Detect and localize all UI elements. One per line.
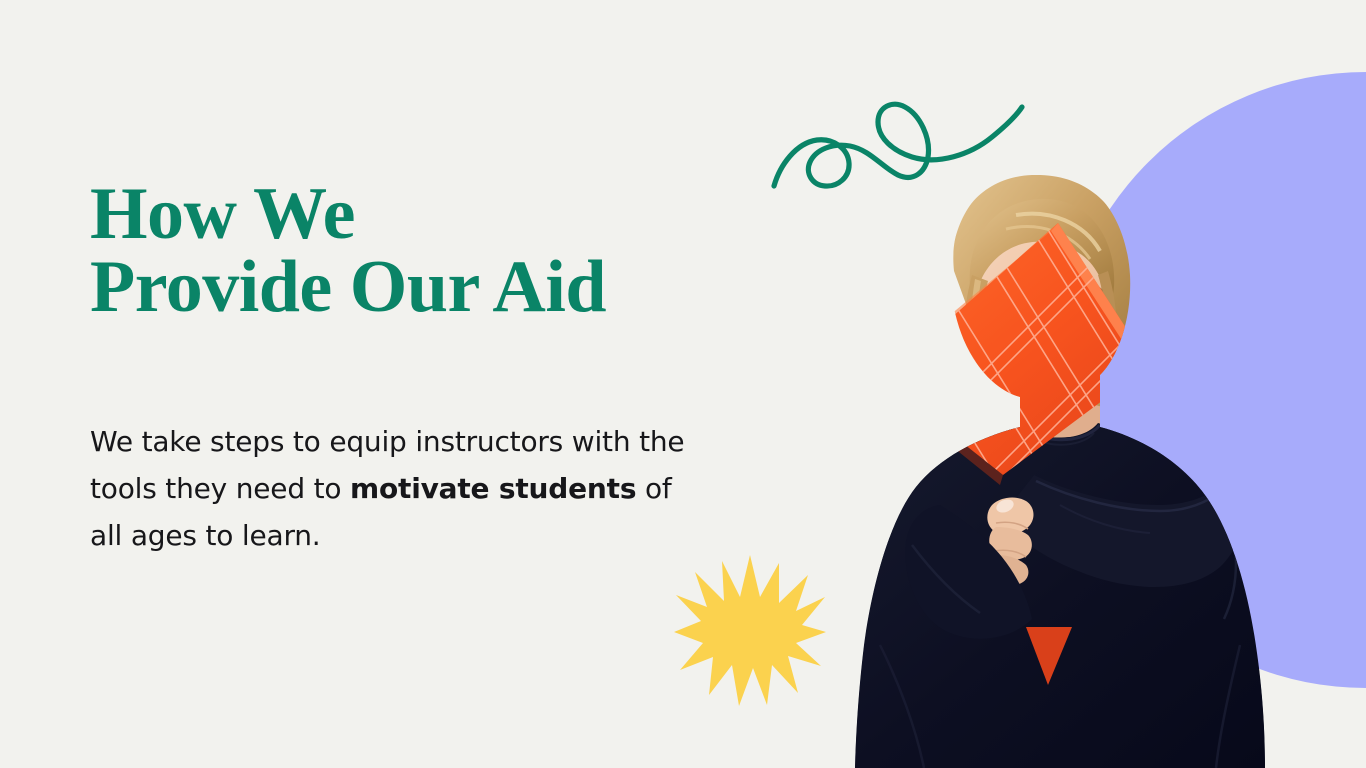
yellow-starburst-decoration — [673, 553, 827, 707]
body-bold-text: motivate students — [350, 472, 636, 505]
page-title: How We Provide Our Aid — [90, 178, 770, 325]
text-block: How We Provide Our Aid — [90, 178, 770, 325]
person-photo — [820, 175, 1290, 768]
slide-canvas: How We Provide Our Aid We take steps to … — [0, 0, 1366, 768]
body-paragraph: We take steps to equip instructors with … — [90, 418, 690, 559]
